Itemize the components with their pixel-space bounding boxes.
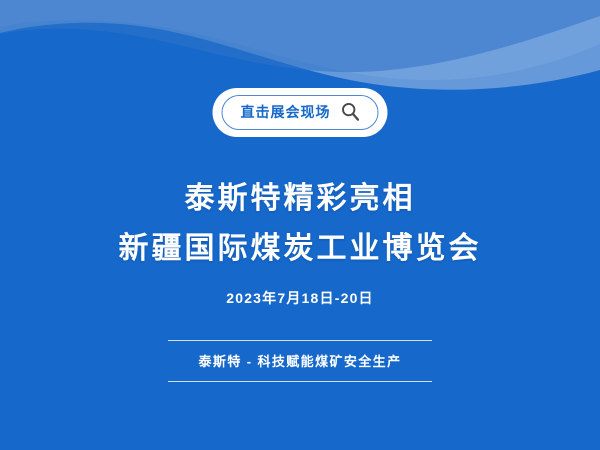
tagline-text: 泰斯特 - 科技赋能煤矿安全生产 [168,341,432,381]
tagline-rule-bottom [168,381,432,382]
badge-label: 直击展会现场 [241,105,331,119]
headline-block: 泰斯特精彩亮相 新疆国际煤炭工业博览会 2023年7月18日-20日 [0,180,600,305]
title-line-2: 新疆国际煤炭工业博览会 [0,230,600,268]
live-badge[interactable]: 直击展会现场 [213,88,388,137]
wave-light-shape [0,0,600,80]
tagline-block: 泰斯特 - 科技赋能煤矿安全生产 [168,340,432,382]
badge-inner-ring: 直击展会现场 [222,95,379,130]
title-line-1: 泰斯特精彩亮相 [0,180,600,218]
wave-dark-shape [0,0,600,72]
search-icon[interactable] [340,101,362,123]
badge-outer-ring: 直击展会现场 [213,88,388,137]
exhibition-banner: 直击展会现场 泰斯特精彩亮相 新疆国际煤炭工业博览会 2023年7月18日-20… [0,0,600,450]
event-date: 2023年7月18日-20日 [0,269,600,305]
wave-mid-shape [0,0,600,90]
